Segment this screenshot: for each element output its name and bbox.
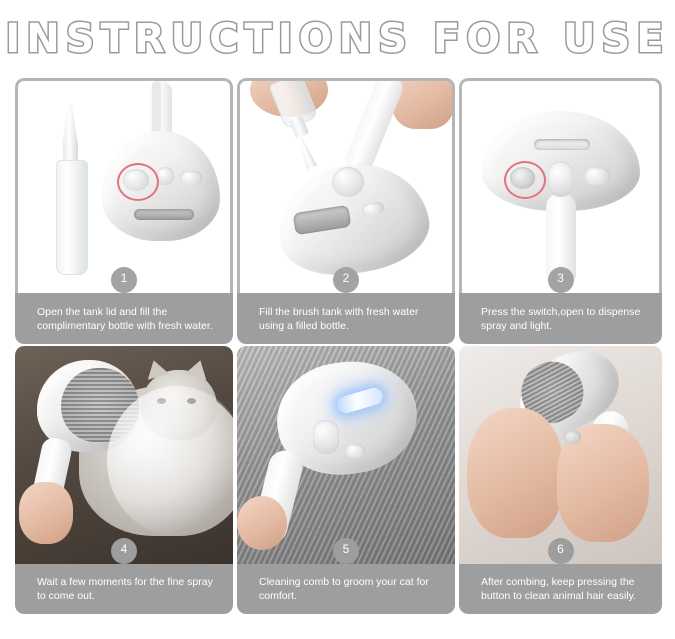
- device-water-slot: [134, 209, 194, 220]
- scene-bottle-and-device: [18, 81, 230, 293]
- tank-opening[interactable]: [332, 167, 364, 197]
- device-button-right[interactable]: [584, 167, 610, 185]
- scene-spraying-cat: [15, 346, 233, 564]
- device-water-slot: [534, 139, 590, 150]
- step-caption-3: Press the switch,open to dispense spray …: [459, 293, 662, 344]
- step-image-5: 5: [237, 346, 455, 564]
- step-badge-5: 5: [333, 538, 359, 564]
- device-button-center[interactable]: [548, 161, 573, 197]
- hand-left-pulling-hair: [467, 408, 563, 538]
- bottle-tip-icon: [62, 105, 78, 145]
- highlight-ring-icon: [117, 163, 159, 201]
- scene-filling-tank: [240, 81, 452, 293]
- device-button-right[interactable]: [180, 171, 202, 185]
- step-caption-1: Open the tank lid and fill the complimen…: [15, 293, 233, 344]
- step-caption-5: Cleaning comb to groom your cat for comf…: [237, 564, 455, 614]
- bottle-body-icon: [56, 160, 88, 275]
- step-panel-6[interactable]: 6 After combing, keep pressing the butto…: [459, 346, 662, 614]
- device-button-center[interactable]: [313, 420, 339, 454]
- hair-release-button[interactable]: [563, 430, 581, 444]
- step-image-1: 1: [15, 78, 233, 293]
- bottle-neck-icon: [63, 143, 78, 161]
- step-image-2: 2: [237, 78, 455, 293]
- step-badge-1: 1: [111, 267, 137, 293]
- header: INSTRUCTIONS FOR USE: [0, 0, 675, 78]
- step-caption-6: After combing, keep pressing the button …: [459, 564, 662, 614]
- step-panel-4[interactable]: 4 Wait a few moments for the fine spray …: [15, 346, 233, 614]
- step-caption-2: Fill the brush tank with fresh water usi…: [237, 293, 455, 344]
- step-caption-4: Wait a few moments for the fine spray to…: [15, 564, 233, 614]
- scene-switch-closeup: [462, 81, 659, 293]
- step-image-3: 3: [459, 78, 662, 293]
- step-image-4: 4: [15, 346, 233, 564]
- device-stem: [341, 78, 407, 178]
- highlight-ring-icon: [504, 161, 546, 199]
- device-button-right[interactable]: [345, 444, 365, 458]
- scene-grooming-with-led: [237, 346, 455, 564]
- step-badge-2: 2: [333, 267, 359, 293]
- device-stem-groove: [152, 81, 161, 133]
- step-panel-3[interactable]: 3 Press the switch,open to dispense spra…: [459, 78, 662, 344]
- hand-holding-device: [19, 482, 73, 544]
- step-badge-6: 6: [548, 538, 574, 564]
- step-image-6: 6: [459, 346, 662, 564]
- step-badge-4: 4: [111, 538, 137, 564]
- thumb: [237, 496, 287, 550]
- steps-grid: 1 Open the tank lid and fill the complim…: [15, 78, 660, 614]
- step-badge-3: 3: [548, 267, 574, 293]
- step-panel-5[interactable]: 5 Cleaning comb to groom your cat for co…: [237, 346, 455, 614]
- step-panel-1[interactable]: 1 Open the tank lid and fill the complim…: [15, 78, 233, 344]
- page-title: INSTRUCTIONS FOR USE: [5, 19, 669, 59]
- scene-cleaning-hair: [459, 346, 662, 564]
- step-panel-2[interactable]: 2 Fill the brush tank with fresh water u…: [237, 78, 455, 344]
